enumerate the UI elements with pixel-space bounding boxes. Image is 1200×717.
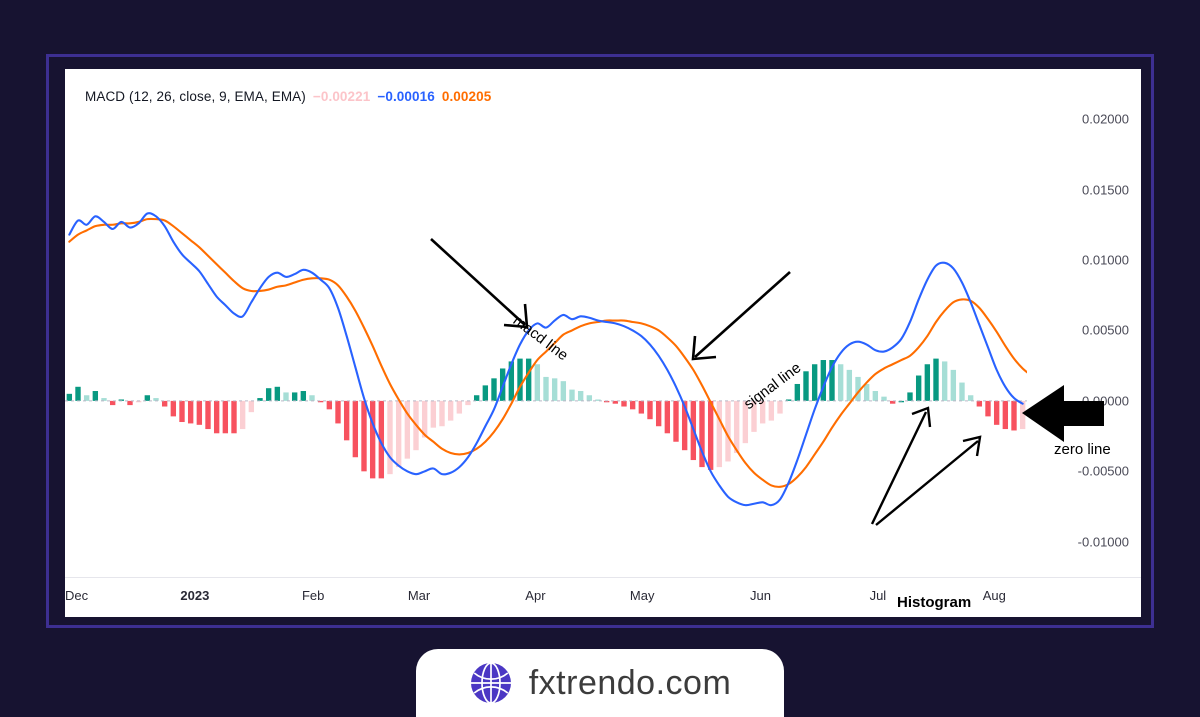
histogram-bar <box>708 401 713 470</box>
macd-line-path <box>69 213 1022 505</box>
histogram-bar <box>578 391 583 401</box>
histogram-bar <box>457 401 462 414</box>
histogram-bar <box>847 370 852 401</box>
annotation-histogram: Histogram <box>897 594 971 611</box>
histogram-bar <box>951 370 956 401</box>
histogram-bar <box>517 359 522 401</box>
histogram-bar <box>396 401 401 467</box>
histogram-bar <box>925 364 930 401</box>
histogram-bar <box>93 391 98 401</box>
histogram-bar <box>292 392 297 400</box>
y-axis-tick: 0.00000 <box>1082 393 1129 408</box>
histogram-bar <box>474 395 479 401</box>
histogram-bar <box>110 401 115 405</box>
histogram-bar <box>205 401 210 429</box>
histogram-bar <box>665 401 670 433</box>
histogram-bar <box>162 401 167 407</box>
histogram-bar <box>881 397 886 401</box>
histogram-bar <box>942 361 947 400</box>
histogram-bar <box>214 401 219 433</box>
histogram-bar <box>630 401 635 409</box>
x-axis-tick: Apr <box>525 588 545 603</box>
histogram-bar <box>673 401 678 442</box>
histogram-bar <box>734 401 739 453</box>
histogram-bar <box>249 401 254 412</box>
histogram-bar <box>864 384 869 401</box>
histogram-bar <box>465 401 470 405</box>
chart-panel: MACD (12, 26, close, 9, EMA, EMA)−0.0022… <box>65 69 1141 617</box>
histogram-bar <box>301 391 306 401</box>
y-axis-tick: 0.01500 <box>1082 182 1129 197</box>
histogram-bar <box>968 395 973 401</box>
histogram-bar <box>535 364 540 401</box>
histogram-bar <box>1003 401 1008 429</box>
histogram-bar <box>569 390 574 401</box>
histogram-bar <box>959 383 964 401</box>
histogram-bar <box>1020 401 1025 429</box>
x-axis-tick: Jul <box>870 588 887 603</box>
histogram-bar <box>656 401 661 426</box>
histogram-bar <box>483 385 488 400</box>
y-axis-tick: 0.01000 <box>1082 252 1129 267</box>
y-axis-tick: -0.01000 <box>1078 534 1129 549</box>
histogram-bar <box>873 391 878 401</box>
x-axis-tick: Aug <box>983 588 1006 603</box>
histogram-bar <box>266 388 271 401</box>
histogram-bar <box>777 401 782 414</box>
histogram-bar <box>1011 401 1016 431</box>
histogram-bar <box>353 401 358 457</box>
histogram-bar <box>370 401 375 478</box>
histogram-bar <box>431 401 436 428</box>
histogram-bar <box>223 401 228 433</box>
histogram-bar <box>361 401 366 471</box>
y-axis-tick: -0.00500 <box>1078 464 1129 479</box>
histogram-bar <box>543 377 548 401</box>
histogram-bar <box>977 401 982 407</box>
y-axis-tick: 0.02000 <box>1082 112 1129 127</box>
x-axis: Dec2023FebMarAprMayJunJulAug <box>65 577 1141 617</box>
histogram-bar <box>439 401 444 426</box>
y-axis-tick: 0.00500 <box>1082 323 1129 338</box>
histogram-bar <box>812 364 817 401</box>
histogram-bar <box>916 376 921 401</box>
y-axis: 0.020000.015000.010000.005000.00000-0.00… <box>1031 69 1141 617</box>
histogram-bar <box>179 401 184 422</box>
histogram-bar <box>491 378 496 401</box>
histogram-bar <box>587 395 592 401</box>
histogram-bar <box>561 381 566 401</box>
brand-text: fxtrendo.com <box>529 664 732 703</box>
histogram-bar <box>197 401 202 425</box>
globe-icon <box>469 661 513 705</box>
histogram-bar <box>795 384 800 401</box>
histogram-bar <box>344 401 349 440</box>
histogram-bar <box>127 401 132 405</box>
histogram-bar <box>231 401 236 433</box>
x-axis-tick: Dec <box>65 588 88 603</box>
histogram-bar <box>387 401 392 474</box>
histogram-bar <box>309 395 314 401</box>
histogram-bar <box>84 395 89 401</box>
histogram-bar <box>335 401 340 424</box>
histogram-bar <box>552 378 557 401</box>
histogram-bar <box>639 401 644 414</box>
histogram-bar <box>985 401 990 416</box>
histogram-bar <box>838 364 843 401</box>
brand-badge: fxtrendo.com <box>416 649 784 717</box>
histogram-bar <box>188 401 193 424</box>
histogram-bar <box>769 401 774 421</box>
annotation-zero-line: zero line <box>1054 441 1111 458</box>
x-axis-tick: Mar <box>408 588 430 603</box>
histogram-bar <box>621 401 626 407</box>
chart-frame: MACD (12, 26, close, 9, EMA, EMA)−0.0022… <box>46 54 1154 628</box>
x-axis-tick: Jun <box>750 588 771 603</box>
histogram-bar <box>275 387 280 401</box>
histogram-bar <box>145 395 150 401</box>
histogram-bars <box>67 359 1026 479</box>
histogram-bar <box>994 401 999 425</box>
histogram-bar <box>67 394 72 401</box>
x-axis-tick: Feb <box>302 588 324 603</box>
histogram-bar <box>283 392 288 400</box>
histogram-bar <box>907 392 912 400</box>
x-axis-tick: 2023 <box>180 588 209 603</box>
histogram-bar <box>933 359 938 401</box>
histogram-bar <box>647 401 652 419</box>
x-axis-tick: May <box>630 588 655 603</box>
histogram-bar <box>526 359 531 401</box>
histogram-bar <box>327 401 332 409</box>
histogram-bar <box>171 401 176 416</box>
histogram-bar <box>448 401 453 421</box>
histogram-bar <box>75 387 80 401</box>
histogram-bar <box>717 401 722 467</box>
histogram-bar <box>240 401 245 429</box>
histogram-bar <box>803 371 808 401</box>
